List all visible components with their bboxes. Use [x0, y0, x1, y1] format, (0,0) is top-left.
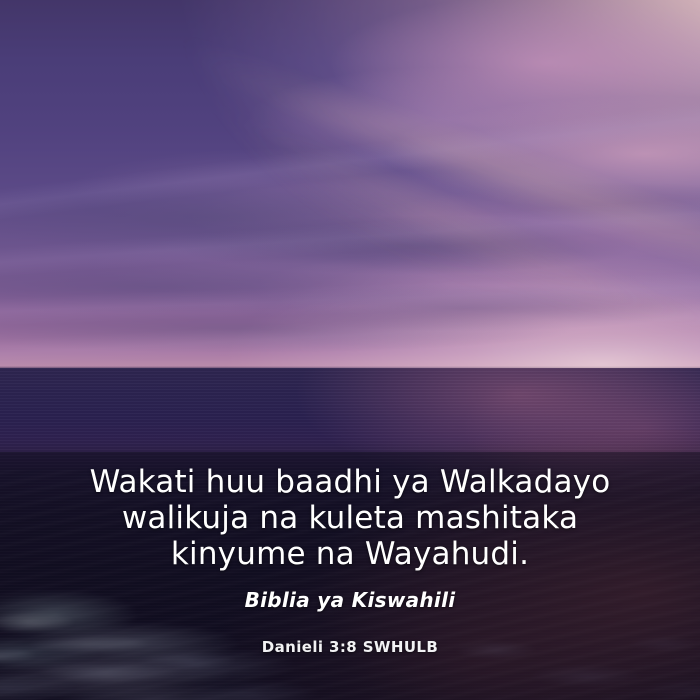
- verse-reference-citation: Danieli 3:8 SWHULB: [262, 638, 438, 656]
- verse-line-2: walikuja na kuleta mashitaka: [20, 500, 680, 536]
- verse-image-card: Wakati huu baadhi ya Walkadayo walikuja …: [0, 0, 700, 700]
- verse-line-1: Wakati huu baadhi ya Walkadayo: [20, 464, 680, 500]
- verse-text-block: Wakati huu baadhi ya Walkadayo walikuja …: [0, 452, 700, 700]
- verse-body-text: Wakati huu baadhi ya Walkadayo walikuja …: [20, 464, 680, 572]
- bible-translation-name: Biblia ya Kiswahili: [245, 588, 456, 612]
- verse-line-3: kinyume na Wayahudi.: [20, 536, 680, 572]
